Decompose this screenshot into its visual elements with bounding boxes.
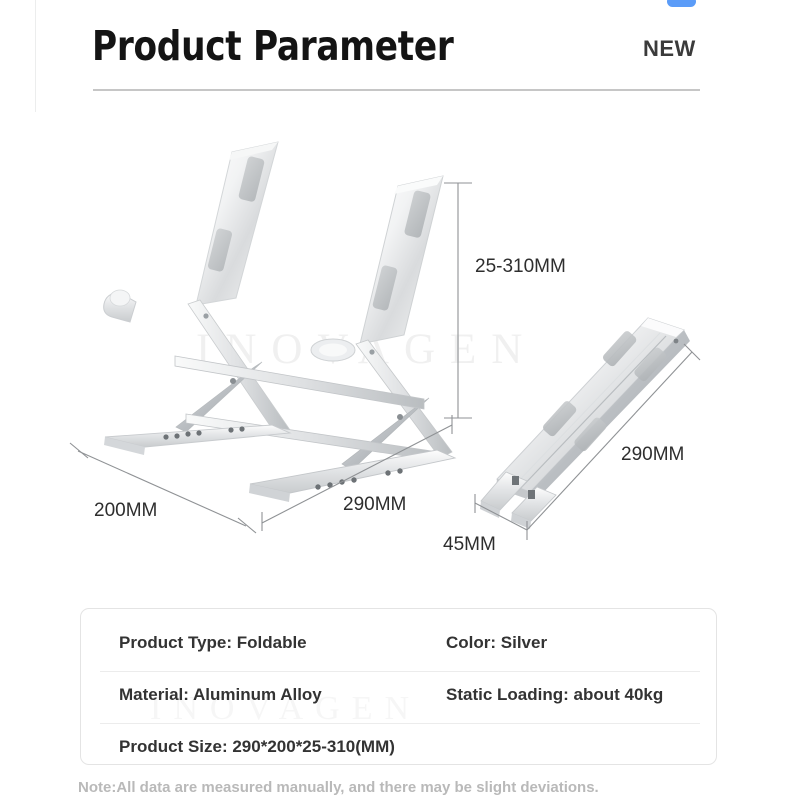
hinge-pin-front — [397, 414, 403, 420]
spec-cell-color: Color: Silver — [446, 633, 547, 653]
spec-cell-material: Material: Aluminum Alloy — [119, 685, 322, 705]
dimension-label-height: 25-310MM — [475, 256, 566, 278]
spec-row: Material: Aluminum Alloy Static Loading:… — [81, 671, 718, 723]
stand-rear-top-plate — [196, 142, 278, 305]
spec-cell-static-loading: Static Loading: about 40kg — [446, 685, 663, 705]
spec-row: Product Type: Foldable Color: Silver — [81, 619, 718, 671]
stand-open-figure — [104, 142, 455, 502]
spec-row: Product Size: 290*200*25-310(MM) — [81, 723, 718, 775]
spec-cell-product-size: Product Size: 290*200*25-310(MM) — [119, 737, 395, 757]
stand-rear-base-rail — [104, 425, 290, 455]
dimension-label-folded-thickness: 45MM — [443, 534, 496, 556]
disclaimer-note: Note:All data are measured manually, and… — [78, 779, 599, 796]
product-parameter-page: Product Parameter NEW INOVAGEN — [0, 0, 800, 800]
dimension-label-folded-length: 290MM — [621, 444, 684, 466]
stand-folded-figure — [480, 318, 690, 529]
spec-cell-product-type: Product Type: Foldable — [119, 633, 307, 653]
stand-front-top-plate — [360, 176, 443, 344]
spec-table-card: Product Type: Foldable Color: Silver Mat… — [80, 608, 717, 765]
dimension-label-width: 290MM — [343, 494, 406, 516]
dimension-label-depth: 200MM — [94, 500, 157, 522]
hinge-pin-rear — [230, 378, 236, 384]
stand-device-lip — [104, 290, 136, 322]
